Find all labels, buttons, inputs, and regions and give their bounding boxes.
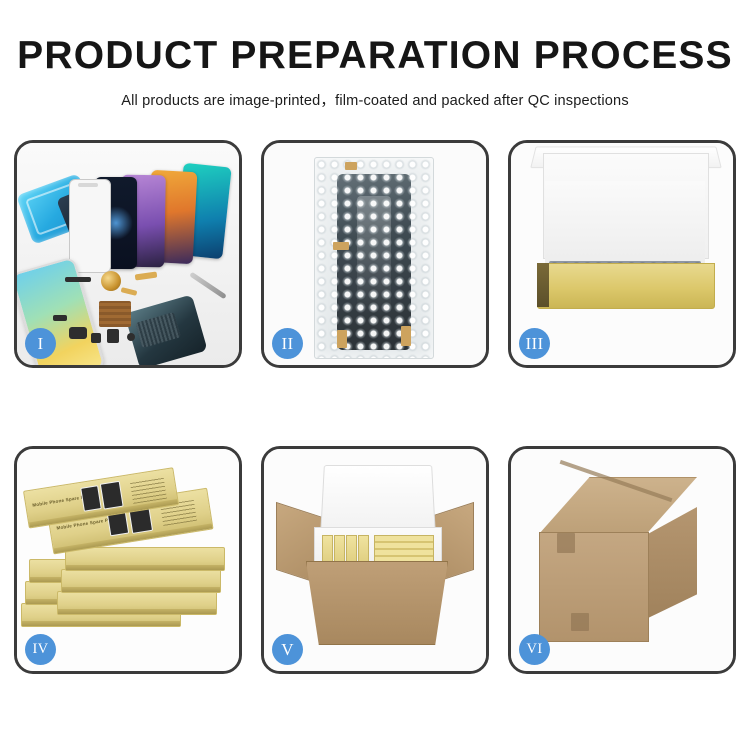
box-window-back-2 xyxy=(100,481,124,510)
product-preparation-infographic: PRODUCT PREPARATION PROCESS All products… xyxy=(0,0,750,750)
flex-cable-small-icon xyxy=(121,287,138,296)
speaker-mesh-icon xyxy=(65,277,91,282)
tape-top-icon xyxy=(345,162,357,170)
header: PRODUCT PREPARATION PROCESS All products… xyxy=(0,0,750,110)
yellow-box-tray xyxy=(537,263,715,309)
step-badge-1: I xyxy=(25,328,56,359)
box-spec-lines-back xyxy=(130,477,167,504)
step-panel-5: V xyxy=(261,446,489,674)
sealed-carton-front xyxy=(539,532,649,642)
box-tray-side xyxy=(537,263,549,307)
camera-module-icon xyxy=(69,327,87,339)
stacked-box-right-3 xyxy=(65,547,225,571)
phone-back-housing-icon xyxy=(124,294,207,365)
page-subtitle: All products are image-printed，film-coat… xyxy=(0,89,750,110)
bubble-texture xyxy=(315,158,433,358)
box-window-back-1 xyxy=(80,485,102,512)
carton-body xyxy=(306,561,448,645)
step-badge-6: VI xyxy=(519,634,550,665)
step-panel-6: VI xyxy=(508,446,736,674)
stacked-box-right-1 xyxy=(57,591,217,615)
connector-icon xyxy=(53,315,67,321)
step-badge-2: II xyxy=(272,328,303,359)
vibrator-icon xyxy=(91,333,101,343)
bubble-wrap-bag xyxy=(314,157,434,359)
copper-coil-icon xyxy=(101,271,121,291)
tape-bottom-right-icon xyxy=(401,326,411,346)
stacked-box-right-2 xyxy=(61,569,221,593)
circuit-board-icon xyxy=(99,301,131,327)
page-title: PRODUCT PREPARATION PROCESS xyxy=(0,36,750,77)
step-panel-1: I xyxy=(14,140,242,368)
sim-tray-icon xyxy=(107,329,119,343)
tempered-glass-icon xyxy=(69,179,111,273)
tape-mid-icon xyxy=(333,242,349,250)
carton-tab-lower xyxy=(571,613,589,631)
white-foam-liner xyxy=(545,181,705,265)
step-badge-4: IV xyxy=(25,634,56,665)
carton-tab-upper xyxy=(557,533,575,553)
step-panel-2: II xyxy=(261,140,489,368)
step-panel-3: III xyxy=(508,140,736,368)
step-panel-4: Mobile Phone Spare Parts Mobile Phone Sp… xyxy=(14,446,242,674)
tape-bottom-left-icon xyxy=(337,330,347,348)
box-stack: Mobile Phone Spare Parts Mobile Phone Sp… xyxy=(21,469,237,659)
step-badge-5: V xyxy=(272,634,303,665)
process-steps-grid: I II xyxy=(14,140,736,680)
step-badge-3: III xyxy=(519,328,550,359)
phone-fan-group xyxy=(71,165,239,277)
screw-icon xyxy=(127,333,135,341)
